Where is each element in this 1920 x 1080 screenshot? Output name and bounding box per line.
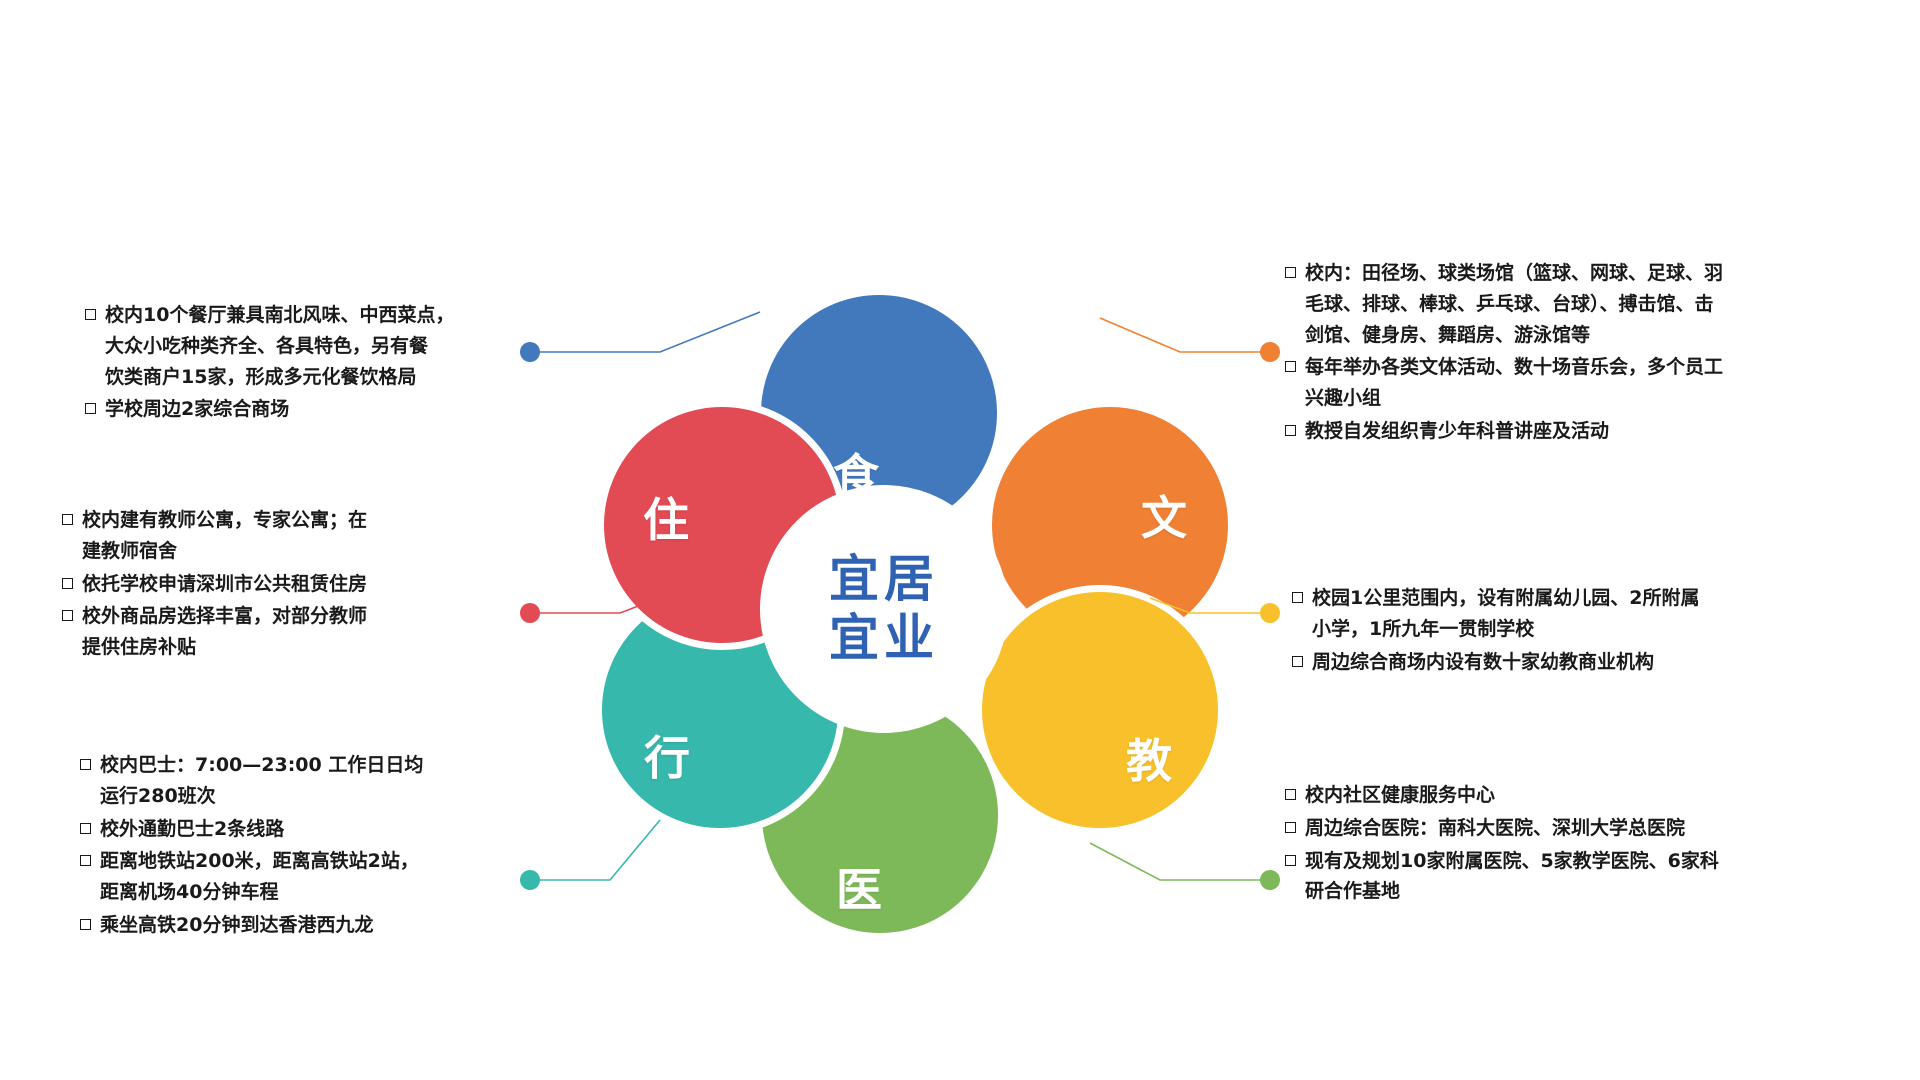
callout-item-text: 距离地铁站200米，距离高铁站2站， 距离机场40分钟车程 <box>100 846 510 908</box>
connector-dot-yi <box>1260 870 1280 890</box>
callout-item-text: 校内建有教师公寓，专家公寓；在 建教师宿舍 <box>82 505 507 567</box>
connector-dot-xing <box>520 870 540 890</box>
callout-item-text: 校内社区健康服务中心 <box>1305 780 1845 811</box>
connector-wen <box>1100 318 1260 352</box>
callout-item-text: 教授自发组织青少年科普讲座及活动 <box>1305 416 1845 447</box>
callout-jiao: 校园1公里范围内，设有附属幼儿园、2所附属 小学，1所九年一贯制学校周边综合商场… <box>1292 583 1852 679</box>
checkbox-bullet-icon <box>62 578 73 589</box>
checkbox-bullet-icon <box>80 855 91 866</box>
connector-dot-wen <box>1260 342 1280 362</box>
callout-item: 依托学校申请深圳市公共租赁住房 <box>62 569 507 600</box>
callout-item: 校内10个餐厅兼具南北风味、中西菜点， 大众小吃种类齐全、各具特色，另有餐 饮类… <box>85 300 505 392</box>
callout-item-text: 校外商品房选择丰富，对部分教师 提供住房补贴 <box>82 601 507 663</box>
callout-item-text: 校内巴士：7:00—23:00 工作日日均 运行280班次 <box>100 750 510 812</box>
checkbox-bullet-icon <box>85 309 96 320</box>
connector-dot-shi <box>520 342 540 362</box>
callout-item-text: 校内10个餐厅兼具南北风味、中西菜点， 大众小吃种类齐全、各具特色，另有餐 饮类… <box>105 300 505 392</box>
callout-item: 校内社区健康服务中心 <box>1285 780 1845 811</box>
callout-item-text: 每年举办各类文体活动、数十场音乐会，多个员工 兴趣小组 <box>1305 352 1845 414</box>
checkbox-bullet-icon <box>1292 656 1303 667</box>
callout-wen: 校内：田径场、球类场馆（篮球、网球、足球、羽 毛球、排球、棒球、乒乓球、台球）、… <box>1285 258 1845 449</box>
callout-item: 校内：田径场、球类场馆（篮球、网球、足球、羽 毛球、排球、棒球、乒乓球、台球）、… <box>1285 258 1845 350</box>
callout-item-text: 学校周边2家综合商场 <box>105 394 505 425</box>
checkbox-bullet-icon <box>1285 822 1296 833</box>
callout-item: 乘坐高铁20分钟到达香港西九龙 <box>80 910 510 941</box>
diagram-canvas: 食 文 教 医 行 住 宜居 宜业 校内10个餐厅兼具南北风味、中西菜点， 大众… <box>0 0 1920 1080</box>
connector-dot-jiao <box>1260 603 1280 623</box>
petal-jiao[interactable]: 教 <box>975 585 1225 835</box>
callout-item-text: 周边综合医院：南科大医院、深圳大学总医院 <box>1305 813 1845 844</box>
checkbox-bullet-icon <box>80 823 91 834</box>
checkbox-bullet-icon <box>80 759 91 770</box>
petal-wen-label: 文 <box>1141 482 1189 548</box>
callout-item-text: 乘坐高铁20分钟到达香港西九龙 <box>100 910 510 941</box>
petal-zhu-label: 住 <box>643 484 691 550</box>
callout-item: 校外商品房选择丰富，对部分教师 提供住房补贴 <box>62 601 507 663</box>
checkbox-bullet-icon <box>1285 855 1296 866</box>
callout-item: 距离地铁站200米，距离高铁站2站， 距离机场40分钟车程 <box>80 846 510 908</box>
connector-shi <box>540 312 760 352</box>
checkbox-bullet-icon <box>85 403 96 414</box>
checkbox-bullet-icon <box>62 610 73 621</box>
callout-item-text: 周边综合商场内设有数十家幼教商业机构 <box>1312 647 1852 678</box>
checkbox-bullet-icon <box>1285 267 1296 278</box>
checkbox-bullet-icon <box>1285 425 1296 436</box>
callout-item: 每年举办各类文体活动、数十场音乐会，多个员工 兴趣小组 <box>1285 352 1845 414</box>
callout-item: 教授自发组织青少年科普讲座及活动 <box>1285 416 1845 447</box>
callout-item: 周边综合商场内设有数十家幼教商业机构 <box>1292 647 1852 678</box>
petal-jiao-label: 教 <box>1126 725 1174 791</box>
callout-item-text: 校园1公里范围内，设有附属幼儿园、2所附属 小学，1所九年一贯制学校 <box>1312 583 1852 645</box>
center-title-line2: 宜业 <box>829 609 939 668</box>
callout-item: 现有及规划10家附属医院、5家教学医院、6家科 研合作基地 <box>1285 846 1845 908</box>
petal-xing-label: 行 <box>644 722 692 788</box>
connector-xing <box>540 820 660 880</box>
connector-dot-zhu <box>520 603 540 623</box>
center-title-line1: 宜居 <box>829 550 939 609</box>
checkbox-bullet-icon <box>1285 789 1296 800</box>
callout-item: 周边综合医院：南科大医院、深圳大学总医院 <box>1285 813 1845 844</box>
callout-item: 校园1公里范围内，设有附属幼儿园、2所附属 小学，1所九年一贯制学校 <box>1292 583 1852 645</box>
connector-yi <box>1090 843 1260 880</box>
callout-yi: 校内社区健康服务中心周边综合医院：南科大医院、深圳大学总医院现有及规划10家附属… <box>1285 780 1845 909</box>
callout-item-text: 校内：田径场、球类场馆（篮球、网球、足球、羽 毛球、排球、棒球、乒乓球、台球）、… <box>1305 258 1845 350</box>
checkbox-bullet-icon <box>62 514 73 525</box>
callout-item: 校内建有教师公寓，专家公寓；在 建教师宿舍 <box>62 505 507 567</box>
callout-item-text: 现有及规划10家附属医院、5家教学医院、6家科 研合作基地 <box>1305 846 1845 908</box>
callout-xing: 校内巴士：7:00—23:00 工作日日均 运行280班次校外通勤巴士2条线路距… <box>80 750 510 943</box>
checkbox-bullet-icon <box>1292 592 1303 603</box>
checkbox-bullet-icon <box>80 919 91 930</box>
callout-item-text: 校外通勤巴士2条线路 <box>100 814 510 845</box>
center-circle[interactable]: 宜居 宜业 <box>760 485 1008 733</box>
callout-item-text: 依托学校申请深圳市公共租赁住房 <box>82 569 507 600</box>
callout-item: 校内巴士：7:00—23:00 工作日日均 运行280班次 <box>80 750 510 812</box>
checkbox-bullet-icon <box>1285 361 1296 372</box>
callout-item: 校外通勤巴士2条线路 <box>80 814 510 845</box>
callout-shi: 校内10个餐厅兼具南北风味、中西菜点， 大众小吃种类齐全、各具特色，另有餐 饮类… <box>85 300 505 427</box>
callout-zhu: 校内建有教师公寓，专家公寓；在 建教师宿舍依托学校申请深圳市公共租赁住房校外商品… <box>62 505 507 665</box>
petal-yi-label: 医 <box>836 854 884 920</box>
callout-item: 学校周边2家综合商场 <box>85 394 505 425</box>
